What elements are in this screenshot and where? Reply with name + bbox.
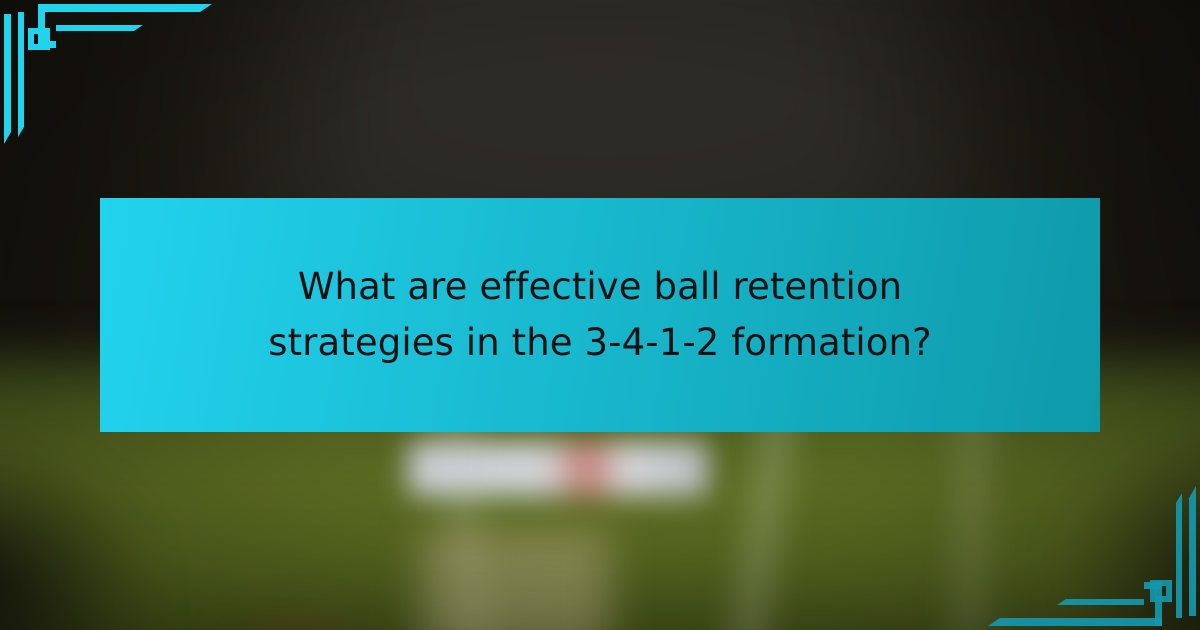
ornament-long-vertical-rule-taper	[1189, 486, 1196, 498]
share-card: What are effective ball retention strate…	[0, 0, 1200, 630]
ornament-long-horizontal-rule	[38, 4, 200, 12]
corner-ornament-top-left	[0, 0, 220, 200]
ornament-long-horizontal-rule	[1000, 618, 1162, 626]
ornament-short-vertical-rule	[18, 12, 24, 127]
question-banner: What are effective ball retention strate…	[100, 198, 1100, 432]
ornament-short-horizontal-rule	[56, 25, 134, 31]
question-text: What are effective ball retention strate…	[200, 259, 1000, 371]
ornament-short-horizontal-rule	[1066, 599, 1144, 605]
ornament-small-square	[28, 28, 50, 50]
ornament-long-vertical-rule	[1189, 498, 1196, 616]
corner-ornament-bottom-right	[980, 430, 1200, 630]
ornament-long-vertical-rule	[4, 14, 11, 132]
ornament-long-vertical-rule-taper	[4, 132, 11, 144]
ornament-short-vertical-rule	[1176, 503, 1182, 618]
ornament-short-horizontal-rule-taper	[134, 25, 143, 31]
ornament-long-horizontal-rule-taper	[200, 4, 212, 12]
ornament-short-horizontal-rule-taper	[1057, 599, 1066, 605]
ornament-short-vertical-rule-taper	[18, 127, 24, 137]
ornament-long-horizontal-rule-taper	[988, 618, 1000, 626]
ornament-small-square	[1150, 580, 1172, 602]
ornament-short-vertical-rule-taper	[1176, 493, 1182, 503]
